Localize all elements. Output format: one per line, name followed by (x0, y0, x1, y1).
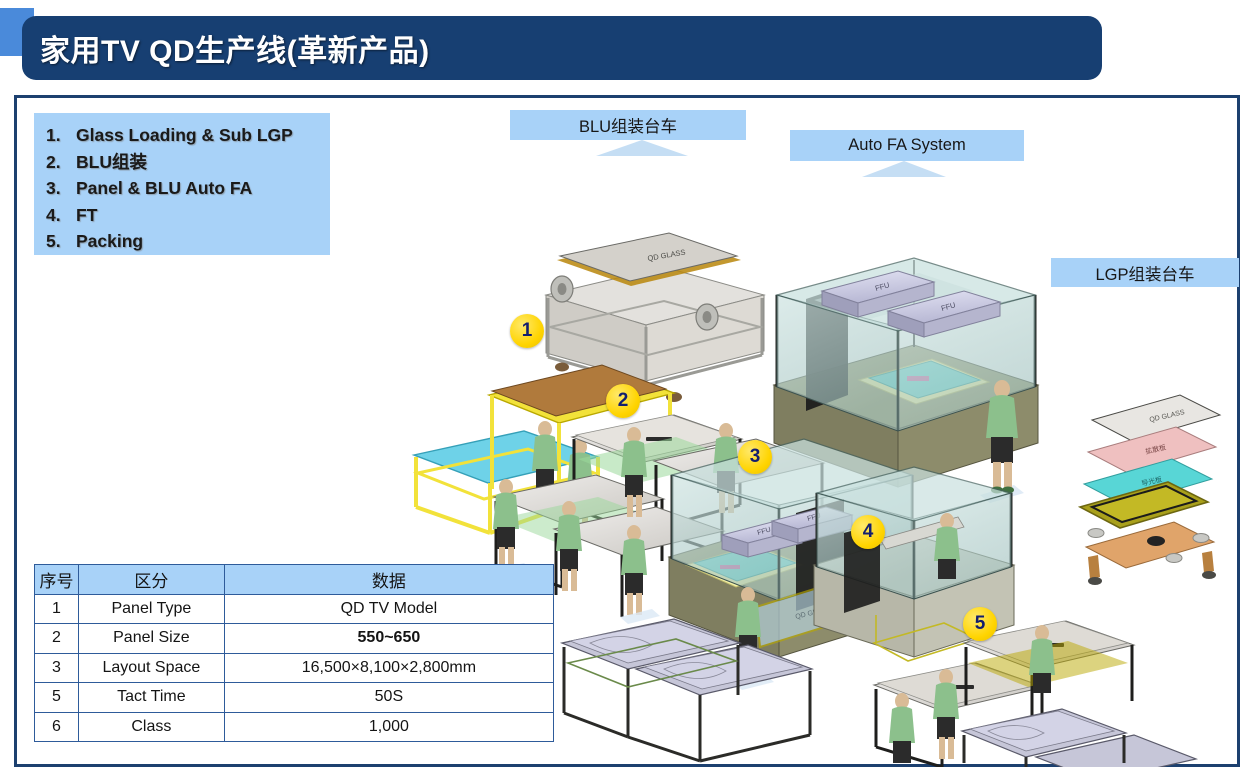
process-step-label: Packing (76, 228, 143, 255)
step-badge-4[interactable]: 4 (851, 515, 885, 549)
title-banner: 家用TV QD生产线(革新产品) (22, 16, 1102, 80)
spec-cell-data: QD TV Model (224, 594, 553, 624)
spec-cell-division: Panel Type (78, 594, 224, 624)
callout-stem-fa (862, 161, 946, 177)
spec-header-division: 区分 (78, 565, 224, 595)
step-badge-2[interactable]: 2 (606, 384, 640, 418)
process-step-item: 1.Glass Loading & Sub LGP (46, 122, 330, 149)
spec-cell-data: 1,000 (224, 712, 553, 742)
process-step-item: 5.Packing (46, 228, 330, 255)
table-row: 6Class1,000 (35, 712, 554, 742)
process-step-label: Panel & BLU Auto FA (76, 175, 252, 202)
slide-canvas: 家用TV QD生产线(革新产品) (0, 0, 1253, 781)
process-step-label: Glass Loading & Sub LGP (76, 122, 293, 149)
step-badge-1[interactable]: 1 (510, 314, 544, 348)
table-row: 2Panel Size550~650 (35, 624, 554, 654)
spec-header-data: 数据 (224, 565, 553, 595)
process-step-number: 1. (46, 122, 76, 149)
callout-label-blu-cart: BLU组装台车 (510, 110, 746, 140)
spec-cell-no: 1 (35, 594, 79, 624)
spec-cell-data: 550~650 (224, 624, 553, 654)
spec-cell-no: 3 (35, 653, 79, 683)
page-title: 家用TV QD生产线(革新产品) (22, 26, 430, 70)
spec-cell-no: 2 (35, 624, 79, 654)
process-step-item: 4.FT (46, 202, 330, 229)
process-step-label: BLU组装 (76, 149, 147, 176)
spec-table: 序号 区分 数据 1Panel TypeQD TV Model2Panel Si… (34, 564, 554, 742)
spec-cell-no: 5 (35, 683, 79, 713)
lgp-assembly-cart-exploded: QD GLASS 拡散板 导光板 (1080, 395, 1220, 585)
process-step-number: 5. (46, 228, 76, 255)
step-badge-5[interactable]: 5 (963, 607, 997, 641)
spec-cell-data: 50S (224, 683, 553, 713)
table-row: 1Panel TypeQD TV Model (35, 594, 554, 624)
process-step-item: 2.BLU组装 (46, 149, 330, 176)
table-row: 3Layout Space16,500×8,100×2,800mm (35, 653, 554, 683)
callout-label-lgp-cart: LGP组装台车 (1051, 258, 1239, 287)
table-row: 5Tact Time50S (35, 683, 554, 713)
process-step-number: 3. (46, 175, 76, 202)
spec-header-no: 序号 (35, 565, 79, 595)
callout-stem-blu (596, 140, 688, 156)
callout-label-auto-fa: Auto FA System (790, 130, 1024, 161)
process-step-list: 1.Glass Loading & Sub LGP2.BLU组装3.Panel … (34, 113, 330, 255)
process-step-label: FT (76, 202, 97, 229)
spec-cell-division: Layout Space (78, 653, 224, 683)
process-step-item: 3.Panel & BLU Auto FA (46, 175, 330, 202)
step-badge-3[interactable]: 3 (738, 440, 772, 474)
spec-cell-no: 6 (35, 712, 79, 742)
spec-cell-division: Class (78, 712, 224, 742)
process-step-number: 4. (46, 202, 76, 229)
spec-cell-division: Tact Time (78, 683, 224, 713)
spec-cell-division: Panel Size (78, 624, 224, 654)
spec-table-header-row: 序号 区分 数据 (35, 565, 554, 595)
process-step-number: 2. (46, 149, 76, 176)
spec-cell-data: 16,500×8,100×2,800mm (224, 653, 553, 683)
